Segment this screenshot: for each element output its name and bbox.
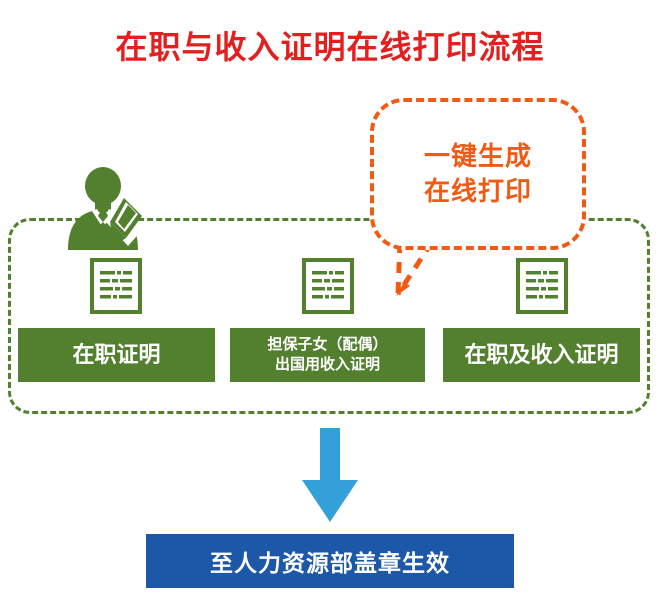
document-icon: [516, 258, 568, 314]
document-icon: [302, 258, 354, 314]
document-icon: [90, 258, 142, 314]
result-label: 至人力资源部盖章生效: [210, 544, 450, 578]
option-box-employment-certificate[interactable]: 在职证明: [18, 328, 215, 382]
arrow-down-icon: [296, 428, 364, 522]
option-label: 在职证明: [72, 341, 160, 369]
businessman-with-pen-icon: [62, 166, 160, 250]
option-label: 在职及收入证明: [464, 341, 618, 369]
result-box-hr-stamp[interactable]: 至人力资源部盖章生效: [146, 534, 514, 588]
option-label-group: 担保子女（配偶） 出国用收入证明: [267, 335, 387, 376]
option-label-line-1: 担保子女（配偶）: [267, 335, 387, 355]
callout-line-2: 在线打印: [424, 174, 532, 209]
callout-line-1: 一键生成: [424, 139, 532, 174]
page-title: 在职与收入证明在线打印流程: [0, 22, 660, 68]
option-label-line-2: 出国用收入证明: [267, 355, 387, 375]
option-box-employment-and-income-certificate[interactable]: 在职及收入证明: [443, 328, 640, 382]
option-box-guarantee-income-certificate[interactable]: 担保子女（配偶） 出国用收入证明: [230, 328, 425, 382]
callout-bubble: 一键生成 在线打印: [370, 98, 586, 250]
